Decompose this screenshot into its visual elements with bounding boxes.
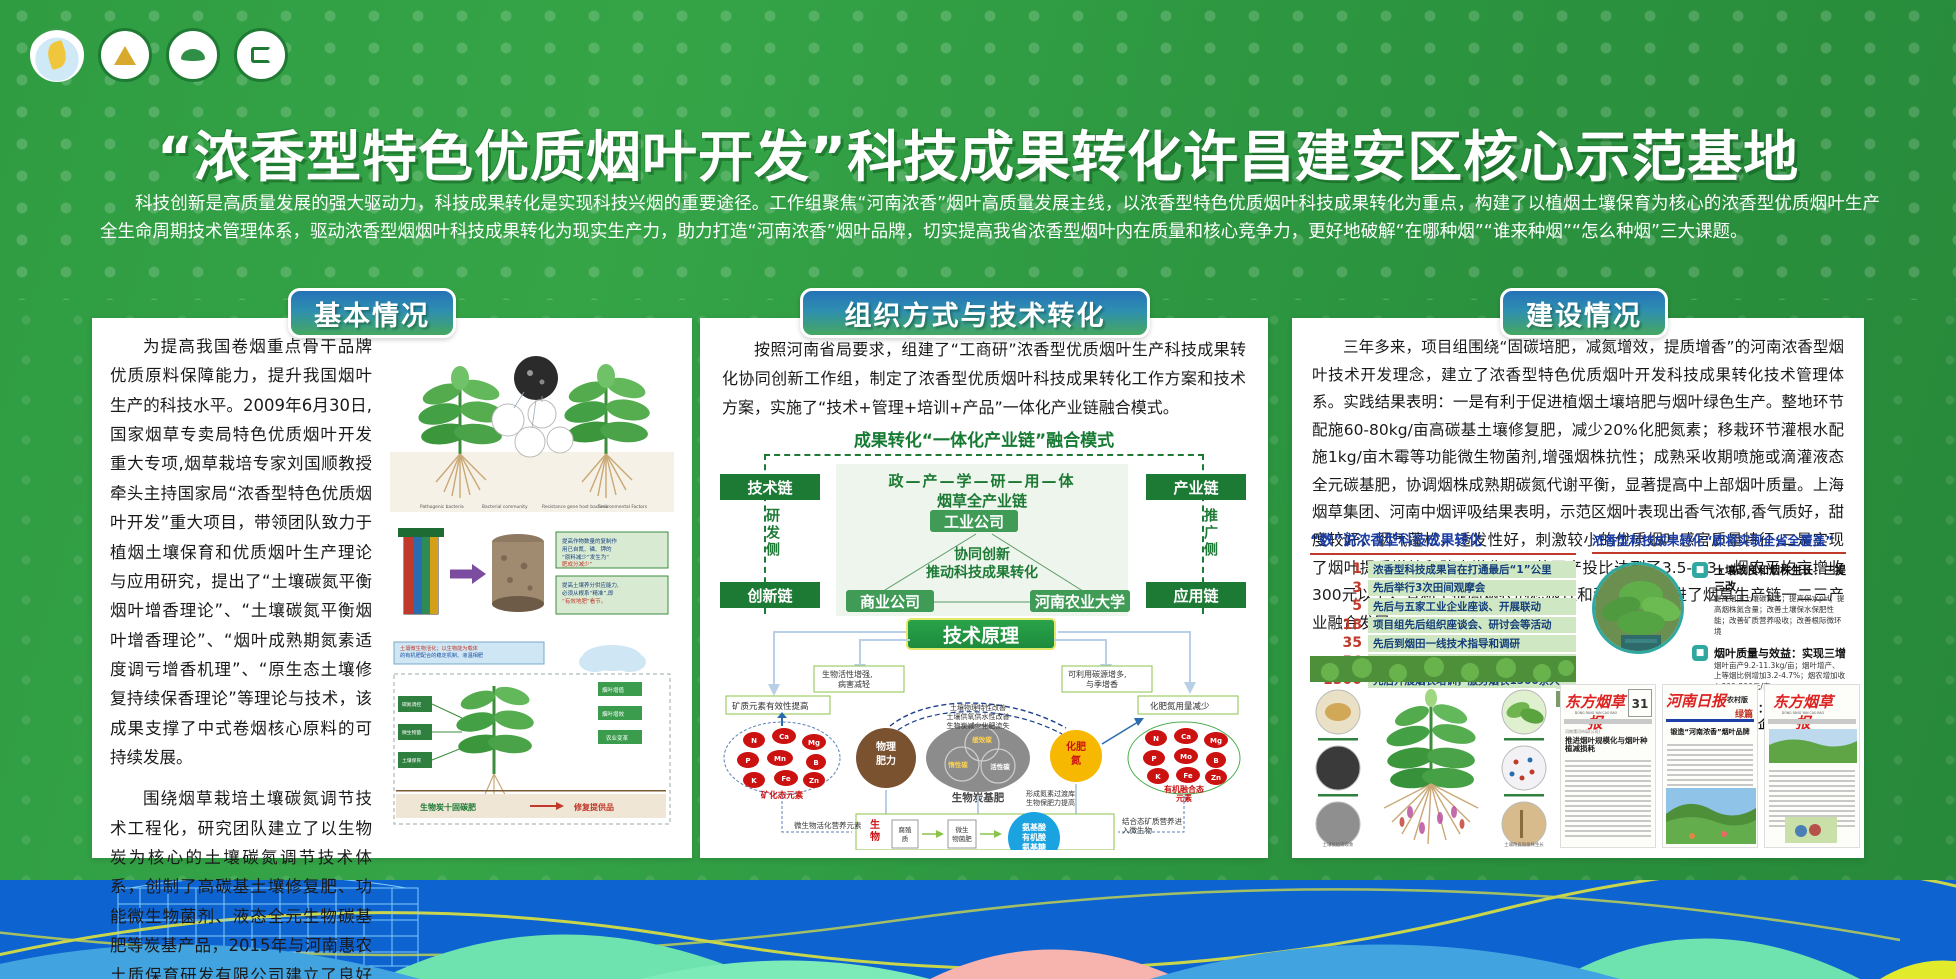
intro-paragraph: 科技创新是高质量发展的强大驱动力，科技成果转化是实现科技兴烟的重要途径。工作组聚… xyxy=(100,190,1880,247)
svg-text:用已自氮、磷、钾的: 用已自氮、磷、钾的 xyxy=(562,545,612,553)
newspaper-2-suffix: 农村版 xyxy=(1727,695,1748,705)
svg-text:土壤保育: 土壤保育 xyxy=(402,757,421,764)
logo-henan-nongxiang xyxy=(30,28,84,82)
svg-text:物理: 物理 xyxy=(876,740,896,753)
svg-text:烟叶增效: 烟叶增效 xyxy=(602,710,625,718)
banner-label-right: 建设情况 xyxy=(1526,294,1642,333)
label-promote-transformation: 推动科技成果转化 xyxy=(836,562,1128,582)
node-application-chain: 应用链 xyxy=(1146,582,1246,608)
svg-text:Zn: Zn xyxy=(809,777,819,785)
leaf-icon xyxy=(44,40,69,70)
svg-text:物菌肥: 物菌肥 xyxy=(952,834,972,843)
panel-left: 为提高我国卷烟重点骨干品牌优质原料保障能力，提升我国烟叶生产的科技水平。2009… xyxy=(92,318,692,858)
newspaper-3: 东方烟草报 DONG FANG YAN CAO BAO xyxy=(1764,684,1860,848)
coverage-title: 浓香型科技成果转化“即将实现全省全覆盖” xyxy=(1592,530,1846,554)
svg-text:氮: 氮 xyxy=(1071,754,1081,767)
left-paragraph-1-text: 为提高我国卷烟重点骨干品牌优质原料保障能力，提升我国烟叶生产的科技水平。2009… xyxy=(110,332,372,772)
svg-text:“原料减少”发生为“: “原料减少”发生为“ xyxy=(562,553,609,561)
newspaper-1-pinyin: DONG FANG YAN CAO BAO xyxy=(1567,711,1625,715)
svg-text:病害减轻: 病害减轻 xyxy=(838,679,870,689)
svg-text:K: K xyxy=(1155,773,1161,781)
svg-text:Ca: Ca xyxy=(779,733,789,741)
svg-text:生: 生 xyxy=(870,818,880,831)
stats-row-number: 35 xyxy=(1310,635,1368,651)
stats-row: 18项目组先后组织座谈会、研讨会等活动 xyxy=(1310,617,1576,634)
node-industry-chain: 产业链 xyxy=(1146,474,1246,500)
coverage-photo xyxy=(1592,562,1684,654)
svg-text:微生物活化营养元素: 微生物活化营养元素 xyxy=(794,820,862,830)
svg-text:修复提供品: 修复提供品 xyxy=(573,802,614,812)
svg-text:B: B xyxy=(1213,757,1218,765)
label-promotion-side: 推广侧 xyxy=(1200,508,1220,559)
node-innovation-chain: 创新链 xyxy=(720,582,820,608)
svg-text:与季增香: 与季增香 xyxy=(1086,679,1118,689)
logo-henan-agricultural-university xyxy=(98,28,152,82)
svg-text:P: P xyxy=(1151,755,1156,763)
svg-text:提高作物数量的复制作: 提高作物数量的复制作 xyxy=(562,537,618,545)
svg-text:腐殖: 腐殖 xyxy=(899,825,913,834)
dashed-top xyxy=(764,454,1204,456)
coverage-bullet-head: 烟叶质量与效益：实现三增 xyxy=(1714,645,1846,661)
soil-icon: ■ xyxy=(1692,562,1708,578)
stats-row-text: 先后到烟田一线技术指导和调研 xyxy=(1368,635,1576,652)
svg-text:N: N xyxy=(1153,735,1159,743)
diagram-title: 成果转化“一体化产业链”融合模式 xyxy=(712,426,1256,451)
middle-paragraph: 按照河南省局要求，组建了“工商研”浓香型优质烟叶生产科技成果转化协同创新工作组，… xyxy=(722,336,1246,422)
svg-text:碳氮调控: 碳氮调控 xyxy=(402,701,421,708)
svg-text:有机酸: 有机酸 xyxy=(1022,832,1047,842)
left-paragraph-2-text: 围绕烟草栽培土壤碳氮调节技术工程化，研究团队建立了以生物炭为核心的土壤碳氮调节技… xyxy=(110,784,372,979)
field-strip-svg xyxy=(1310,656,1576,682)
field-strip-photo xyxy=(1310,656,1576,682)
panel-right: 三年多来，项目组围绕“固碳培肥，减氮增效，提质增香”的河南浓香型烟叶技术开发理念… xyxy=(1292,318,1864,858)
svg-text:农业变革: 农业变革 xyxy=(606,734,629,742)
svg-text:物: 物 xyxy=(870,830,880,843)
svg-text:矿化态元素: 矿化态元素 xyxy=(761,790,804,801)
svg-text:Mn: Mn xyxy=(774,755,786,763)
banner-organization: 组织方式与技术转化 xyxy=(800,288,1150,338)
plant-composite-figure: 土壤板结等现象 土壤改良和植株生长 xyxy=(1306,688,1556,848)
svg-text:化肥: 化肥 xyxy=(1066,740,1086,753)
label-industry-chain: 产业链 xyxy=(1173,477,1218,498)
newspaper-3-photo-2 xyxy=(1785,817,1837,843)
svg-text:氨基酸: 氨基酸 xyxy=(1022,822,1047,832)
svg-text:Mo: Mo xyxy=(1180,753,1192,761)
fertilizer-svg: 提高作物数量的复制作 用已自氮、磷、钾的 “原料减少”发生为“ 肥成分减少” 提… xyxy=(390,518,674,628)
tobacco-photo-svg xyxy=(1595,565,1684,654)
logo-row xyxy=(30,28,288,82)
svg-text:Environmental Factors: Environmental Factors xyxy=(598,504,648,510)
svg-text:入微生物: 入微生物 xyxy=(1122,825,1152,835)
svg-text:生物活性增强,: 生物活性增强, xyxy=(822,669,873,679)
soil-flow-svg: 土壤微生物活化；以生物能为载体 的有机肥配合的稳定机制、液温相肥 烟叶增值 烟叶… xyxy=(390,634,674,834)
svg-text:Ca: Ca xyxy=(1181,733,1191,741)
newspaper-2-masthead: 河南日报 xyxy=(1665,690,1727,711)
banner-basic-situation: 基本情况 xyxy=(288,288,456,338)
svg-text:可利用碳源增多,: 可利用碳源增多, xyxy=(1068,669,1127,679)
coverage-bullet-text: 土壤改良和烟株生长：三提三改提高烟田土壤碳氮比；提高保水pH；提高烟株氮含量；改… xyxy=(1714,562,1846,638)
svg-text:微生物菌: 微生物菌 xyxy=(402,729,421,736)
plant-soil-svg: Pathogenic bacteria Bacterial community … xyxy=(390,332,674,512)
svg-text:肥成分减少”: 肥成分减少” xyxy=(562,560,593,568)
svg-text:土壤改良和植株生长: 土壤改良和植株生长 xyxy=(1504,841,1544,848)
svg-text:Mg: Mg xyxy=(808,739,820,747)
node-henan-agri-university: 河南农业大学 xyxy=(1030,590,1130,612)
svg-text:“有效地肥”看节。: “有效地肥”看节。 xyxy=(562,597,606,605)
tech-principle-svg: 矿质元素有效性提高 生物活性增强, 病害减轻 可利用碳源增多, 与季增香 化肥氮… xyxy=(710,618,1258,850)
svg-text:形成氮素过渡库: 形成氮素过渡库 xyxy=(1026,789,1075,798)
panel-middle: 按照河南省局要求，组建了“工商研”浓香型优质烟叶生产科技成果转化协同创新工作组，… xyxy=(700,318,1268,858)
svg-text:土壤物理特性改善: 土壤物理特性改善 xyxy=(950,703,1006,712)
svg-text:生物保肥力提高: 生物保肥力提高 xyxy=(1026,798,1075,807)
logo-henan-tobacco xyxy=(234,28,288,82)
stats-row: 3先后举行3次田间观摩会 xyxy=(1310,580,1576,597)
leaf-icon: ■ xyxy=(1692,645,1708,661)
figure-soil-flow: 土壤微生物活化；以生物能为载体 的有机肥配合的稳定机制、液温相肥 烟叶增值 烟叶… xyxy=(390,634,674,834)
svg-text:氨基糖: 氨基糖 xyxy=(1022,842,1046,850)
svg-text:惰性碳: 惰性碳 xyxy=(948,760,968,769)
label-chain-line1: 政—产—学—研—用—体 xyxy=(836,470,1128,491)
stats-row-number: 1 xyxy=(1310,561,1368,577)
newspaper-1-body xyxy=(1561,757,1655,840)
node-technology-chain: 技术链 xyxy=(720,474,820,500)
stats-row-number: 3 xyxy=(1310,580,1368,596)
svg-text:活性碳: 活性碳 xyxy=(990,762,1010,771)
newspaper-1-headline: 推进烟叶规模化与烟叶种植减损耗 xyxy=(1565,737,1651,754)
square-emblem-icon xyxy=(251,47,271,63)
svg-text:生物炭减少化肥流失: 生物炭减少化肥流失 xyxy=(947,721,1010,730)
wheat-icon xyxy=(181,49,205,61)
svg-text:质: 质 xyxy=(902,834,909,843)
triangle-icon xyxy=(114,46,136,65)
node-commercial-company: 商业公司 xyxy=(846,590,934,612)
stats-rows: 1浓香型科技成果旨在打通最后“1”公里3先后举行3次田间观摩会5先后与五家工业企… xyxy=(1310,561,1576,707)
label-henan-agri-university: 河南农业大学 xyxy=(1035,591,1125,612)
newspaper-3-rule xyxy=(1768,719,1856,724)
stats-row-text: 先后与五家工业企业座谈、开展联动 xyxy=(1368,598,1576,615)
newspaper-3-pinyin: DONG FANG YAN CAO BAO xyxy=(1773,711,1833,715)
svg-text:微生: 微生 xyxy=(956,825,970,834)
svg-text:生物炭十固碳肥: 生物炭十固碳肥 xyxy=(420,802,476,812)
stats-row: 5先后与五家工业企业座谈、开展联动 xyxy=(1310,598,1576,615)
newspaper-3-photo xyxy=(1769,729,1857,763)
label-commercial-company: 商业公司 xyxy=(860,591,920,612)
svg-text:B: B xyxy=(813,759,818,767)
label-collab-innovation: 协同创新 xyxy=(836,544,1128,564)
newspaper-2-rule xyxy=(1666,719,1754,722)
stats-row-number: 5 xyxy=(1310,598,1368,614)
svg-text:必须从根系“精准”,即: 必须从根系“精准”,即 xyxy=(562,589,614,597)
svg-text:提高土壤养分供应能力,: 提高土壤养分供应能力, xyxy=(562,581,619,589)
svg-text:土壤微生物活化；以生物能为载体: 土壤微生物活化；以生物能为载体 xyxy=(400,644,479,652)
coverage-bullet-head: 土壤改良和烟株生长：三提三改 xyxy=(1714,562,1846,594)
label-rd-side: 研发侧 xyxy=(762,508,782,559)
stats-row-number: 18 xyxy=(1310,617,1368,633)
label-application-chain: 应用链 xyxy=(1173,585,1218,606)
svg-text:有机融合态: 有机融合态 xyxy=(1164,784,1204,794)
left-paragraph-1: 为提高我国卷烟重点骨干品牌优质原料保障能力，提升我国烟叶生产的科技水平。2009… xyxy=(110,332,372,979)
newspaper-1-kicker: 河南漯河市局(公司) xyxy=(1565,729,1600,735)
figure-fertilizer-process: 提高作物数量的复制作 用已自氮、磷、钾的 “原料减少”发生为“ 肥成分减少” 提… xyxy=(390,518,674,628)
svg-text:土壤板结等现象: 土壤板结等现象 xyxy=(1323,841,1354,848)
banner-label-left: 基本情况 xyxy=(314,294,430,333)
stats-row-text: 先后举行3次田间观摩会 xyxy=(1368,580,1576,597)
svg-text:结合态矿质营养进: 结合态矿质营养进 xyxy=(1122,816,1182,826)
svg-text:缓效碳: 缓效碳 xyxy=(971,735,992,744)
svg-text:N: N xyxy=(751,737,757,745)
plant-composite-svg: 土壤板结等现象 土壤改良和植株生长 xyxy=(1306,688,1556,848)
coverage-bullet-sub: 提高烟田土壤碳氮比；提高保水pH；提高烟株氮含量；改善土壤保水保肥性能；改善矿质… xyxy=(1714,594,1846,638)
newspaper-1: 东方烟草报 DONG FANG YAN CAO BAO 31 河南漯河市局(公司… xyxy=(1560,684,1656,848)
svg-text:土壤供氧供水性改善: 土壤供氧供水性改善 xyxy=(947,712,1010,721)
logo-china-tobacco xyxy=(166,28,220,82)
label-chain-line2: 烟草全产业链 xyxy=(836,490,1128,511)
label-innovation-chain: 创新链 xyxy=(747,585,792,606)
diagram-technical-principle: 技术原理 矿质元素有效性提高 生物活性增强, xyxy=(710,618,1258,850)
stats-row: 1浓香型科技成果旨在打通最后“1”公里 xyxy=(1310,561,1576,578)
coverage-bullet: ■土壤改良和烟株生长：三提三改提高烟田土壤碳氮比；提高保水pH；提高烟株氮含量；… xyxy=(1692,562,1846,638)
svg-text:Fe: Fe xyxy=(781,775,790,783)
stats-row-text: 项目组先后组织座谈会、研讨会等活动 xyxy=(1368,617,1576,634)
svg-text:Zn: Zn xyxy=(1211,774,1221,782)
stats-title: “数”说浓香型科技成果转化 xyxy=(1310,530,1576,555)
svg-text:烟叶增值: 烟叶增值 xyxy=(602,686,625,694)
poster-root: “浓香型特色优质烟叶开发”科技成果转化许昌建安区核心示范基地 科技创新是高质量发… xyxy=(0,0,1956,979)
svg-text:Bacterial community: Bacterial community xyxy=(482,504,528,510)
figure-plant-soil: Pathogenic bacteria Bacterial community … xyxy=(390,332,674,512)
newspaper-2: 河南日报 农村版 绿篇 锻造“河南浓香”烟叶品牌 xyxy=(1662,684,1758,848)
svg-text:化肥氮用量减少: 化肥氮用量减少 xyxy=(1150,701,1210,712)
svg-text:矿质元素有效性提高: 矿质元素有效性提高 xyxy=(732,701,809,712)
svg-text:的有机肥配合的稳定机制、液温相肥: 的有机肥配合的稳定机制、液温相肥 xyxy=(400,651,483,659)
newspaper-2-body xyxy=(1663,741,1757,794)
page-title: “浓香型特色优质烟叶开发”科技成果转化许昌建安区核心示范基地 xyxy=(0,112,1956,192)
svg-text:Pathogenic bacteria: Pathogenic bacteria xyxy=(420,504,464,510)
newspaper-2-photo xyxy=(1666,788,1756,844)
newspaper-1-date: 31 xyxy=(1628,689,1652,717)
svg-text:Mg: Mg xyxy=(1210,737,1222,745)
stats-row-text: 浓香型科技成果旨在打通最后“1”公里 xyxy=(1368,561,1576,578)
label-technology-chain: 技术链 xyxy=(747,477,792,498)
banner-construction: 建设情况 xyxy=(1500,288,1668,338)
newspaper-2-headline: 锻造“河南浓香”烟叶品牌 xyxy=(1667,727,1753,737)
newspaper-1-rule xyxy=(1564,719,1652,724)
banner-label-middle: 组织方式与技术转化 xyxy=(845,294,1106,333)
svg-text:K: K xyxy=(751,777,757,785)
stats-block: “数”说浓香型科技成果转化 1浓香型科技成果旨在打通最后“1”公里3先后举行3次… xyxy=(1310,530,1576,709)
svg-text:肥力: 肥力 xyxy=(876,754,896,767)
svg-text:Fe: Fe xyxy=(1183,772,1192,780)
diagram-industry-chain: 成果转化“一体化产业链”融合模式 技术链 创新链 研发侧 产业链 应用链 推广侧… xyxy=(712,426,1256,616)
stats-row: 35先后到烟田一线技术指导和调研 xyxy=(1310,635,1576,652)
svg-text:P: P xyxy=(745,757,750,765)
